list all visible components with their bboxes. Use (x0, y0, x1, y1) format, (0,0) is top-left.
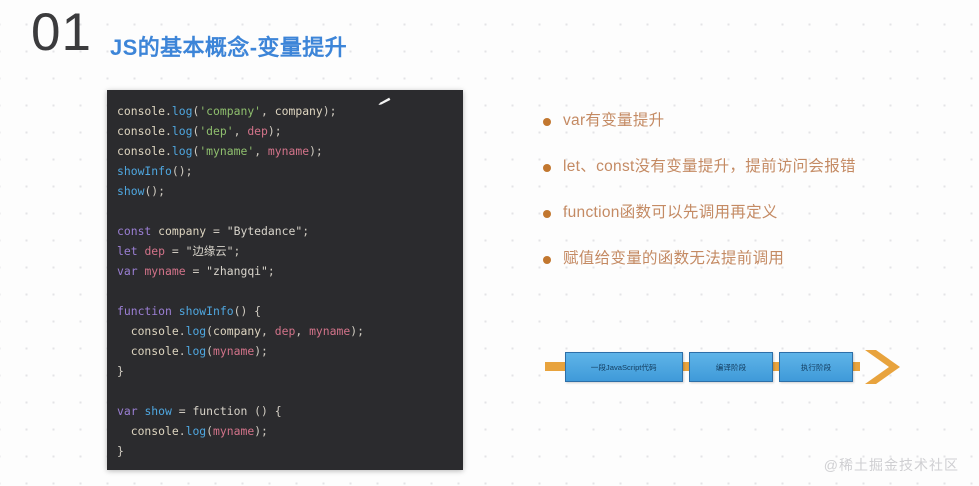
code-token: myname (309, 324, 350, 338)
code-line (117, 281, 463, 301)
code-token: , (254, 144, 268, 158)
code-token: . (179, 324, 186, 338)
pencil-icon (377, 95, 391, 109)
code-token: function (117, 304, 172, 318)
list-item: function函数可以先调用再定义 (543, 202, 963, 248)
list-item-label: 赋值给变量的函数无法提前调用 (563, 248, 784, 270)
code-token: log (172, 124, 193, 138)
code-line: } (117, 441, 463, 461)
code-token: ; (268, 264, 275, 278)
code-token: show (144, 404, 171, 418)
list-item: let、const没有变量提升，提前访问会报错 (543, 156, 963, 202)
list-item: 赋值给变量的函数无法提前调用 (543, 248, 963, 294)
code-token: var (117, 264, 138, 278)
flow-box-label: 执行阶段 (801, 362, 831, 372)
code-token: console (117, 144, 165, 158)
code-token: console (117, 424, 179, 438)
code-token: ); (323, 104, 337, 118)
code-token: . (165, 124, 172, 138)
bullet-list: var有变量提升 let、const没有变量提升，提前访问会报错 functio… (543, 110, 963, 294)
code-token (172, 304, 179, 318)
flow-box-label: 编译阶段 (716, 362, 746, 372)
code-token: showInfo (179, 304, 234, 318)
code-token: log (186, 344, 207, 358)
code-listing: console.log('company', company);console.… (117, 101, 463, 461)
code-token: company (213, 324, 261, 338)
list-item-label: let、const没有变量提升，提前访问会报错 (563, 156, 856, 178)
code-token: showInfo (117, 164, 172, 178)
flow-box-label: 一段JavaScript代码 (591, 362, 657, 372)
code-line: console.log(myname); (117, 421, 463, 441)
code-token: dep (144, 244, 165, 258)
code-token: (); (172, 164, 193, 178)
code-token: "zhangqi" (206, 264, 268, 278)
code-token: console (117, 324, 179, 338)
code-token: , (261, 104, 275, 118)
code-token: = (172, 404, 193, 418)
code-token: = (165, 244, 186, 258)
code-line: show(); (117, 181, 463, 201)
code-token: ); (254, 424, 268, 438)
code-token: } (117, 364, 124, 378)
code-token: console (117, 104, 165, 118)
code-token: . (179, 424, 186, 438)
code-token: ); (309, 144, 323, 158)
code-token: ); (350, 324, 364, 338)
code-token: } (117, 444, 124, 458)
bullet-dot-icon (543, 164, 551, 172)
code-line: console.log(company, dep, myname); (117, 321, 463, 341)
code-token: ; (302, 224, 309, 238)
code-token: 'myname' (199, 144, 254, 158)
code-token: ( (206, 344, 213, 358)
watermark: @稀土掘金技术社区 (824, 455, 959, 475)
code-line: const company = "Bytedance"; (117, 221, 463, 241)
code-token: var (117, 404, 138, 418)
code-token: myname (213, 424, 254, 438)
code-token: () { (247, 404, 281, 418)
code-line: console.log('dep', dep); (117, 121, 463, 141)
code-line: var myname = "zhangqi"; (117, 261, 463, 281)
code-panel: console.log('company', company);console.… (107, 90, 463, 470)
chevron-right-icon (859, 347, 907, 387)
code-token: ( (206, 424, 213, 438)
code-token: dep (247, 124, 268, 138)
code-token: company (158, 224, 206, 238)
code-token: 'dep' (199, 124, 233, 138)
bullet-dot-icon (543, 256, 551, 264)
code-line: console.log('company', company); (117, 101, 463, 121)
code-token: "Bytedance" (227, 224, 302, 238)
code-token: . (165, 144, 172, 158)
code-token: console (117, 124, 165, 138)
flow-box-source: 一段JavaScript代码 (565, 352, 683, 382)
code-token: ); (254, 344, 268, 358)
code-token: , (295, 324, 309, 338)
code-token: function (192, 404, 247, 418)
list-item: var有变量提升 (543, 110, 963, 156)
code-line: function showInfo() { (117, 301, 463, 321)
code-token: ); (268, 124, 282, 138)
code-token: ( (206, 324, 213, 338)
slide-header: 01 JS的基本概念-变量提升 (0, 0, 979, 86)
code-token: "边缘云" (186, 244, 234, 258)
code-token: = (186, 264, 207, 278)
code-token: company (275, 104, 323, 118)
code-line: } (117, 361, 463, 381)
code-token: . (165, 104, 172, 118)
list-item-label: var有变量提升 (563, 110, 664, 132)
flow-box-compile: 编译阶段 (689, 352, 773, 382)
flow-diagram: 一段JavaScript代码 编译阶段 执行阶段 (543, 345, 923, 393)
slide-number: 01 (31, 6, 92, 59)
code-line: console.log('myname', myname); (117, 141, 463, 161)
code-line: let dep = "边缘云"; (117, 241, 463, 261)
code-token: , (234, 124, 248, 138)
code-token: console (117, 344, 179, 358)
code-token: 'company' (199, 104, 261, 118)
code-token: , (261, 324, 275, 338)
code-token: let (117, 244, 138, 258)
code-token: log (186, 324, 207, 338)
code-token: log (186, 424, 207, 438)
code-line: showInfo(); (117, 161, 463, 181)
flow-box-execute: 执行阶段 (779, 352, 853, 382)
code-token: = (206, 224, 227, 238)
code-line: var show = function () { (117, 401, 463, 421)
list-item-label: function函数可以先调用再定义 (563, 202, 778, 224)
code-token: myname (213, 344, 254, 358)
code-token: ; (233, 244, 240, 258)
code-line (117, 381, 463, 401)
page-title: JS的基本概念-变量提升 (110, 30, 347, 62)
code-token: myname (144, 264, 185, 278)
code-token: dep (275, 324, 296, 338)
code-token: (); (144, 184, 165, 198)
code-token: . (179, 344, 186, 358)
code-token: myname (268, 144, 309, 158)
code-token: log (172, 144, 193, 158)
code-token: show (117, 184, 144, 198)
code-token: () { (234, 304, 261, 318)
code-line: console.log(myname); (117, 341, 463, 361)
code-line (117, 201, 463, 221)
bullet-dot-icon (543, 118, 551, 126)
bullet-dot-icon (543, 210, 551, 218)
code-token: log (172, 104, 193, 118)
code-token: const (117, 224, 151, 238)
